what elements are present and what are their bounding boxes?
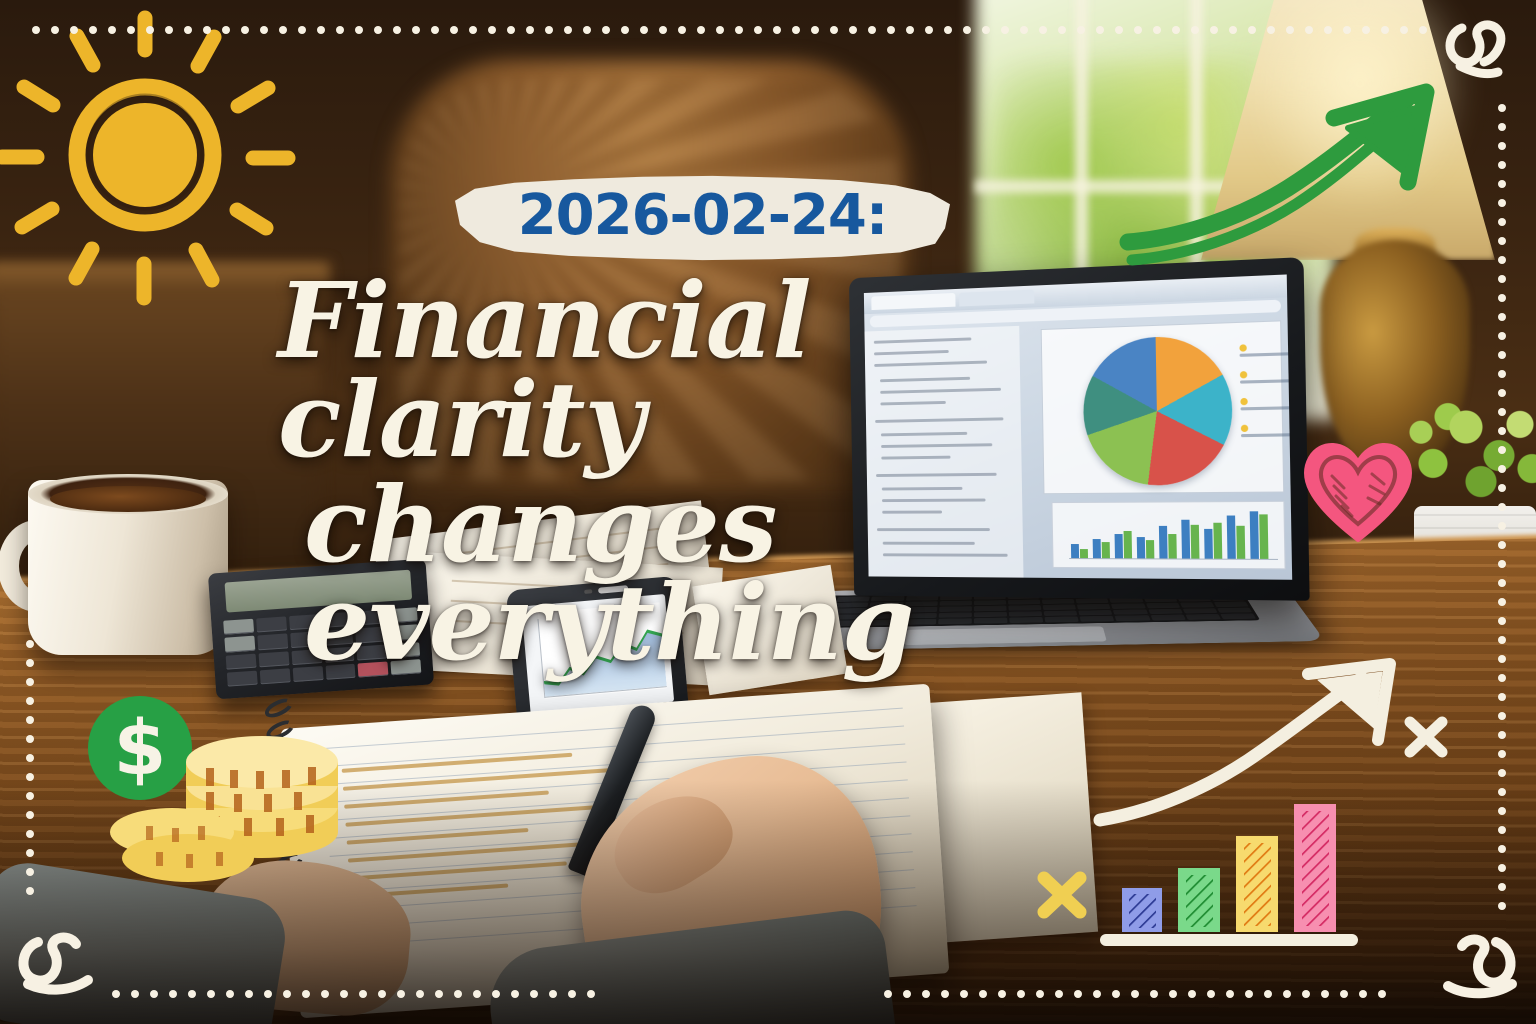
headline-line-2: changes everything: [278, 476, 1098, 674]
headline-line-1: Financial clarity: [278, 272, 1098, 470]
date-badge-label: 2026-02-24:: [455, 172, 950, 258]
coffee-liquid: [50, 486, 206, 512]
headline: Financial clarity changes everything: [278, 272, 1098, 673]
pie-chart-legend: [1239, 343, 1292, 452]
lamp-glow: [1250, 0, 1470, 210]
potted-plant-leaves: [1400, 388, 1536, 518]
date-badge: 2026-02-24:: [455, 175, 950, 261]
quote-card-canvas: $: [0, 0, 1536, 1024]
vignette-shadow: [0, 780, 1536, 1024]
